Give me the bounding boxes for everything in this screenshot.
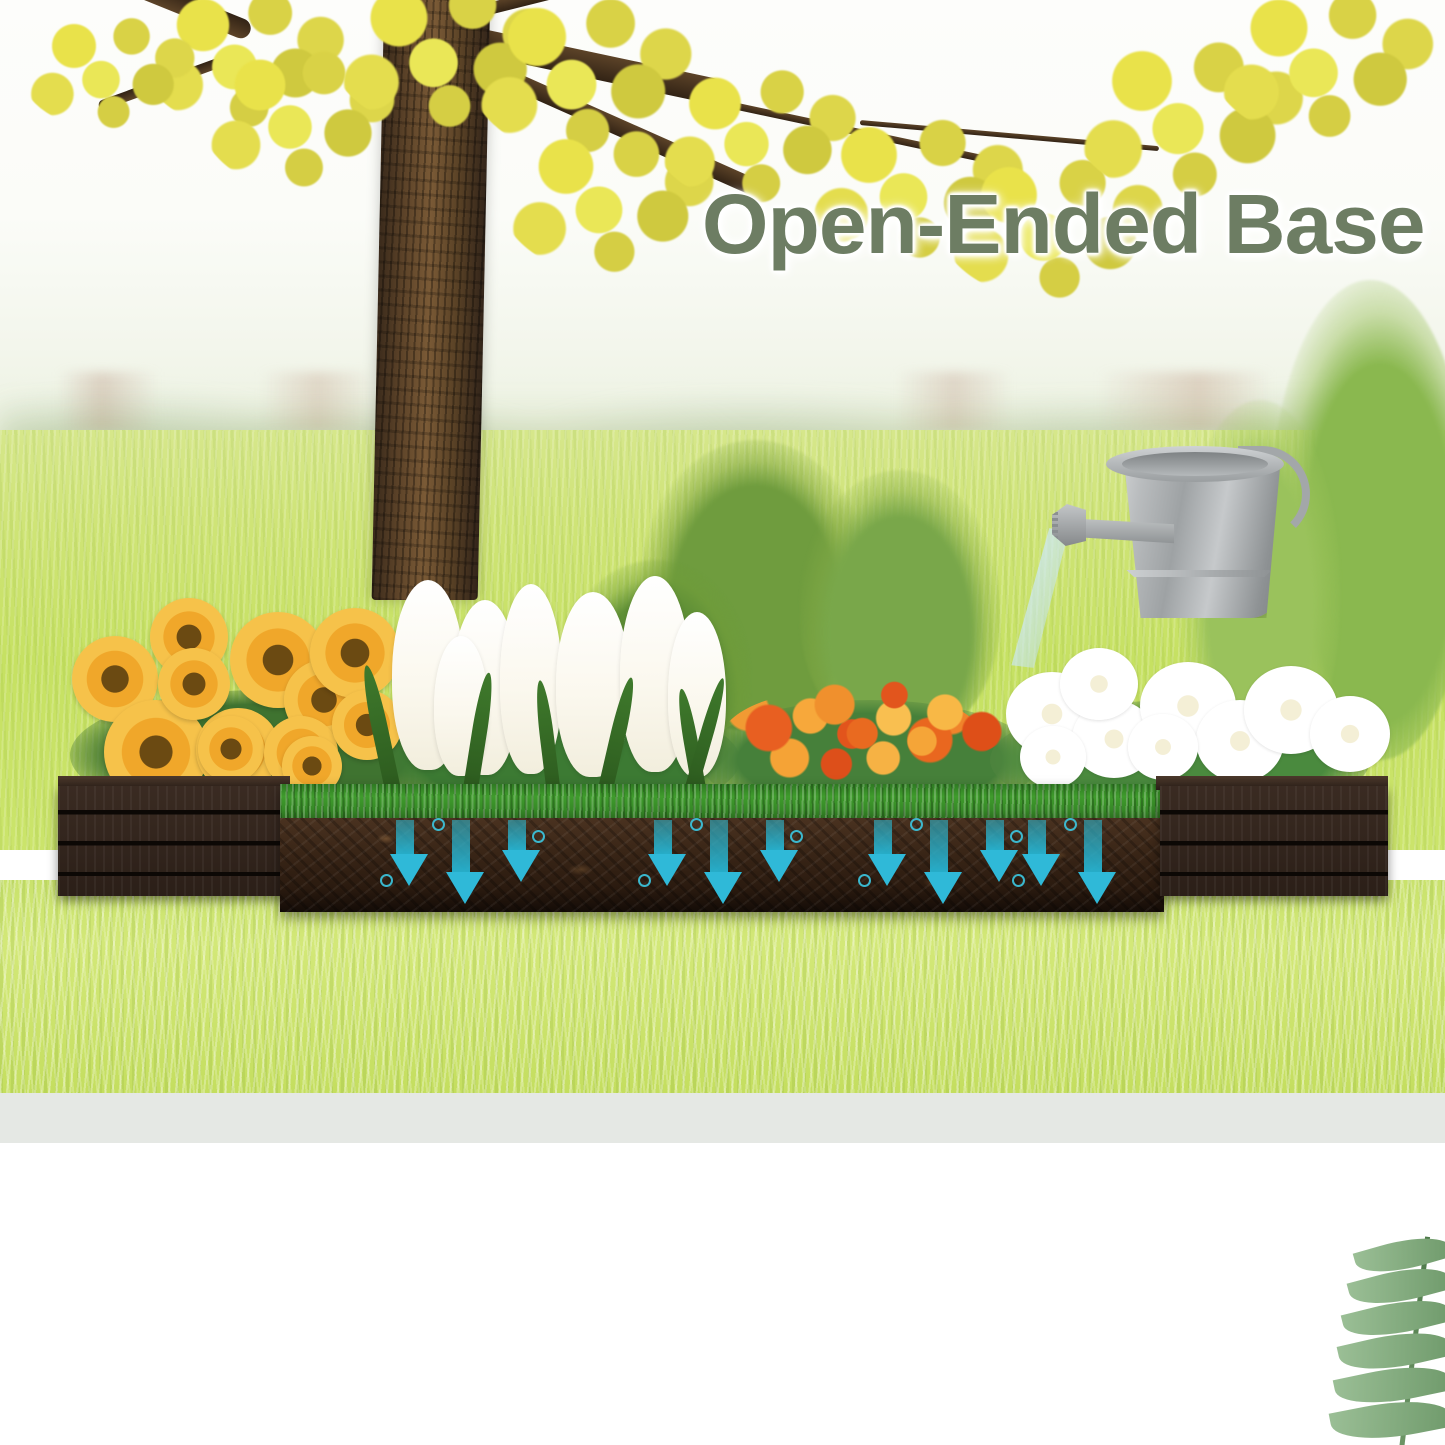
drainage-arrow [1078,820,1108,904]
section-divider [0,1093,1445,1143]
planter-left-panel [58,786,288,896]
drainage-arrow-group [1022,820,1108,904]
drainage-arrow [390,820,420,886]
drainage-arrow-group [648,820,790,904]
drainage-arrow [980,820,1010,882]
garden-scene-photo: Open-Ended Base [0,0,1445,1093]
planter-right-panel [1160,786,1388,896]
product-feature-infographic: Open-Ended Base [0,0,1445,1445]
drainage-arrow-group [390,820,532,904]
features-panel: Promote Good Drainage Avoid Water-Loggin… [0,1143,1445,1445]
watering-can [1042,440,1318,640]
turf-layer [280,784,1164,820]
drainage-arrow [868,820,898,886]
ornamental-shrub [800,470,1000,740]
drainage-arrow-group [868,820,1010,904]
watering-can-band [1122,570,1272,577]
drainage-arrow [446,820,476,904]
raised-garden-bed [58,786,1388,911]
watering-can-opening [1122,452,1268,476]
page-title: Open-Ended Base [701,176,1424,273]
drainage-arrow [502,820,532,882]
drainage-arrow [704,820,734,904]
soil-cross-section [280,784,1164,912]
drainage-arrow [924,820,954,904]
ornamental-shrub [560,560,750,790]
autumn-leaf-cluster [20,10,200,130]
drainage-arrow [648,820,678,886]
palm-leaf-decoration [1323,1236,1445,1445]
drainage-arrow [1022,820,1052,886]
drainage-arrow [760,820,790,882]
